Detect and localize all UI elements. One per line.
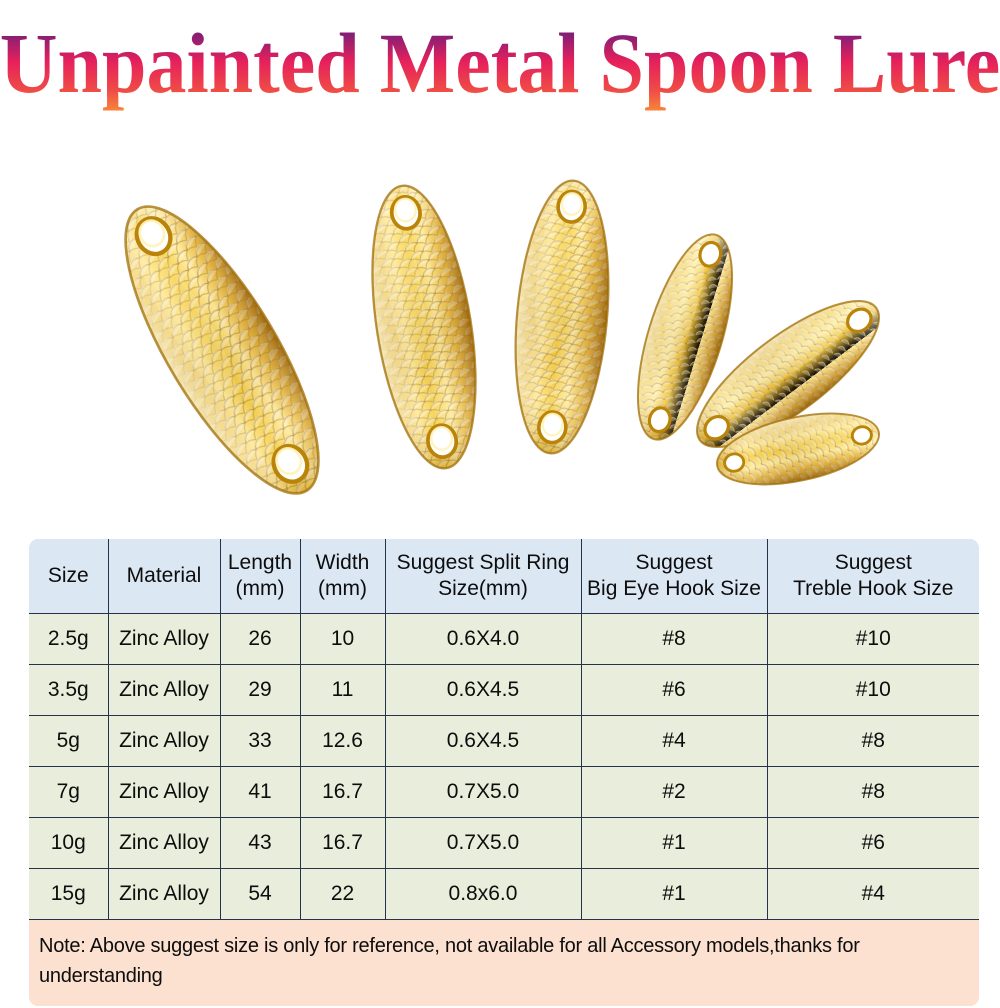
cell-width: 16.7: [300, 818, 385, 869]
table-row: 10g Zinc Alloy 43 16.7 0.7X5.0 #1 #6: [28, 818, 980, 869]
cell-big-eye-hook: #4: [581, 716, 767, 767]
column-header-treble-hook-size: Suggest Treble Hook Size: [767, 538, 980, 614]
header-line-1: Suggest: [835, 551, 912, 574]
cell-length: 26: [220, 614, 300, 665]
product-photo: [0, 112, 1000, 524]
header-line-2: (mm): [236, 577, 285, 600]
cell-length: 41: [220, 767, 300, 818]
note-text: Note: Above suggest size is only for ref…: [28, 920, 980, 1008]
cell-split-ring: 0.6X4.0: [385, 614, 581, 665]
cell-size: 5g: [28, 716, 108, 767]
header-line-1: Width: [316, 551, 370, 574]
table-row: 3.5g Zinc Alloy 29 11 0.6X4.5 #6 #10: [28, 665, 980, 716]
cell-big-eye-hook: #1: [581, 869, 767, 920]
cell-split-ring: 0.7X5.0: [385, 818, 581, 869]
spec-table-container: Size Material Length (mm) Width (mm) Sug…: [27, 537, 979, 1008]
table-row: 5g Zinc Alloy 33 12.6 0.6X4.5 #4 #8: [28, 716, 980, 767]
table-header-row: Size Material Length (mm) Width (mm) Sug…: [28, 538, 980, 614]
cell-material: Zinc Alloy: [108, 716, 220, 767]
column-header-width: Width (mm): [300, 538, 385, 614]
cell-width: 11: [300, 665, 385, 716]
cell-big-eye-hook: #6: [581, 665, 767, 716]
cell-split-ring: 0.8x6.0: [385, 869, 581, 920]
cell-treble-hook: #8: [767, 716, 980, 767]
cell-split-ring: 0.6X4.5: [385, 716, 581, 767]
header-line-1: Suggest Split Ring: [397, 551, 570, 574]
header-line-1: Suggest: [635, 551, 712, 574]
header-line-2: Big Eye Hook Size: [587, 577, 761, 600]
cell-material: Zinc Alloy: [108, 869, 220, 920]
cell-width: 22: [300, 869, 385, 920]
cell-material: Zinc Alloy: [108, 818, 220, 869]
cell-length: 54: [220, 869, 300, 920]
cell-big-eye-hook: #2: [581, 767, 767, 818]
table-row: 7g Zinc Alloy 41 16.7 0.7X5.0 #2 #8: [28, 767, 980, 818]
cell-size: 10g: [28, 818, 108, 869]
title-svg: Unpainted Metal Spoon Lure: [0, 0, 1000, 118]
cell-size: 2.5g: [28, 614, 108, 665]
column-header-size: Size: [28, 538, 108, 614]
cell-big-eye-hook: #8: [581, 614, 767, 665]
cell-size: 15g: [28, 869, 108, 920]
cell-split-ring: 0.6X4.5: [385, 665, 581, 716]
cell-treble-hook: #8: [767, 767, 980, 818]
page-title: Unpainted Metal Spoon Lure: [0, 15, 1000, 110]
cell-width: 12.6: [300, 716, 385, 767]
cell-size: 7g: [28, 767, 108, 818]
cell-material: Zinc Alloy: [108, 767, 220, 818]
cell-length: 29: [220, 665, 300, 716]
column-header-big-eye-hook-size: Suggest Big Eye Hook Size: [581, 538, 767, 614]
cell-length: 43: [220, 818, 300, 869]
header-line-1: Size: [48, 564, 89, 587]
cell-size: 3.5g: [28, 665, 108, 716]
cell-treble-hook: #6: [767, 818, 980, 869]
cell-width: 10: [300, 614, 385, 665]
cell-treble-hook: #4: [767, 869, 980, 920]
cell-treble-hook: #10: [767, 665, 980, 716]
column-header-split-ring-size: Suggest Split Ring Size(mm): [385, 538, 581, 614]
title-banner: Unpainted Metal Spoon Lure: [0, 0, 1000, 118]
column-header-length: Length (mm): [220, 538, 300, 614]
table-row: 2.5g Zinc Alloy 26 10 0.6X4.0 #8 #10: [28, 614, 980, 665]
cell-treble-hook: #10: [767, 614, 980, 665]
specification-table: Size Material Length (mm) Width (mm) Sug…: [27, 537, 981, 1008]
table-row: 15g Zinc Alloy 54 22 0.8x6.0 #1 #4: [28, 869, 980, 920]
cell-big-eye-hook: #1: [581, 818, 767, 869]
header-line-2: Size(mm): [438, 577, 528, 600]
lures-illustration: [0, 112, 1000, 524]
header-line-1: Length: [228, 551, 292, 574]
header-line-2: (mm): [318, 577, 367, 600]
column-header-material: Material: [108, 538, 220, 614]
header-line-2: Treble Hook Size: [793, 577, 953, 600]
cell-material: Zinc Alloy: [108, 614, 220, 665]
cell-material: Zinc Alloy: [108, 665, 220, 716]
cell-length: 33: [220, 716, 300, 767]
cell-width: 16.7: [300, 767, 385, 818]
cell-split-ring: 0.7X5.0: [385, 767, 581, 818]
header-line-1: Material: [127, 564, 202, 587]
table-note-row: Note: Above suggest size is only for ref…: [28, 920, 980, 1008]
